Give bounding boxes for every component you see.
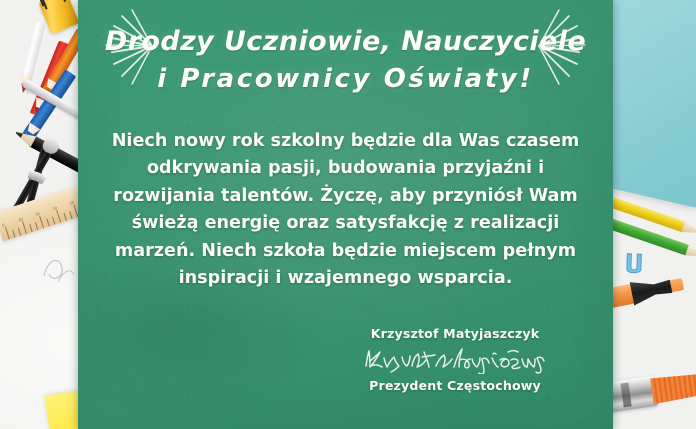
signature-block: Krzysztof Matyjaszczyk bbox=[335, 326, 575, 393]
card-headline: Drodzy Uczniowie, Nauczyciele i Pracowni… bbox=[78, 22, 613, 99]
headline-line-1: Drodzy Uczniowie, Nauczyciele bbox=[78, 22, 613, 61]
ruler-tick bbox=[18, 228, 21, 236]
ruler-tick bbox=[69, 211, 72, 219]
pencil-doodle bbox=[40, 250, 80, 286]
ruler-tick bbox=[22, 221, 27, 234]
chalkboard-content: Drodzy Uczniowie, Nauczyciele i Pracowni… bbox=[78, 0, 613, 429]
ruler-number: 5 bbox=[1, 222, 5, 227]
ruler-tick bbox=[46, 219, 49, 227]
card-body-text: Niech nowy rok szkolny będzie dla Was cz… bbox=[104, 128, 587, 292]
handwritten-signature bbox=[335, 345, 575, 375]
ruler-tick bbox=[35, 222, 38, 230]
ruler-tick bbox=[39, 216, 44, 229]
brush-bristles bbox=[650, 371, 696, 404]
paper-clip bbox=[624, 252, 645, 279]
ruler-tick bbox=[29, 224, 32, 232]
signature-role: Prezydent Częstochowy bbox=[335, 378, 575, 393]
signature-name: Krzysztof Matyjaszczyk bbox=[335, 326, 575, 341]
ruler-tick bbox=[12, 230, 15, 238]
ruler-tick bbox=[63, 213, 66, 221]
chalkboard: Drodzy Uczniowie, Nauczyciele i Pracowni… bbox=[78, 0, 613, 429]
ruler-tick bbox=[56, 210, 61, 223]
greeting-card-image: 5 10 15 20 25 30 bbox=[0, 0, 696, 429]
ruler-tick bbox=[52, 217, 55, 225]
headline-line-2: i Pracownicy Oświaty! bbox=[78, 61, 613, 99]
ruler-tick bbox=[5, 227, 10, 240]
